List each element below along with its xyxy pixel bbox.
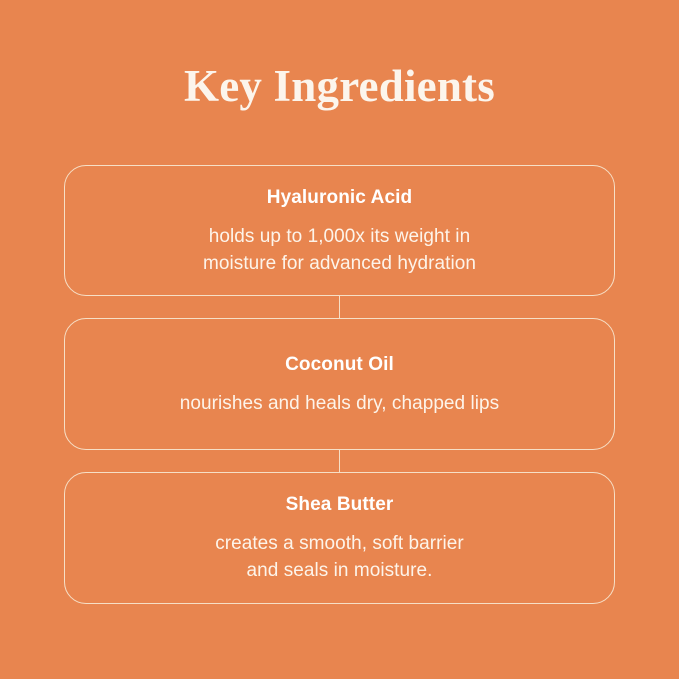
ingredient-description: creates a smooth, soft barrier and seals… bbox=[215, 530, 464, 584]
ingredient-card-coconut-oil: Coconut Oil nourishes and heals dry, cha… bbox=[64, 318, 615, 450]
page-title: Key Ingredients bbox=[0, 57, 679, 115]
ingredient-card-shea-butter: Shea Butter creates a smooth, soft barri… bbox=[64, 472, 615, 604]
ingredient-description: nourishes and heals dry, chapped lips bbox=[180, 390, 499, 417]
ingredient-description: holds up to 1,000x its weight in moistur… bbox=[203, 223, 476, 277]
ingredient-card-hyaluronic-acid: Hyaluronic Acid holds up to 1,000x its w… bbox=[64, 165, 615, 296]
ingredient-name: Hyaluronic Acid bbox=[267, 185, 412, 211]
ingredient-name: Coconut Oil bbox=[285, 352, 394, 378]
connector-line-2 bbox=[64, 450, 615, 472]
connector-line-1 bbox=[64, 296, 615, 318]
ingredient-name: Shea Butter bbox=[286, 492, 394, 518]
ingredient-card-stack: Hyaluronic Acid holds up to 1,000x its w… bbox=[64, 165, 615, 604]
key-ingredients-infographic: Key Ingredients Hyaluronic Acid holds up… bbox=[0, 0, 679, 679]
